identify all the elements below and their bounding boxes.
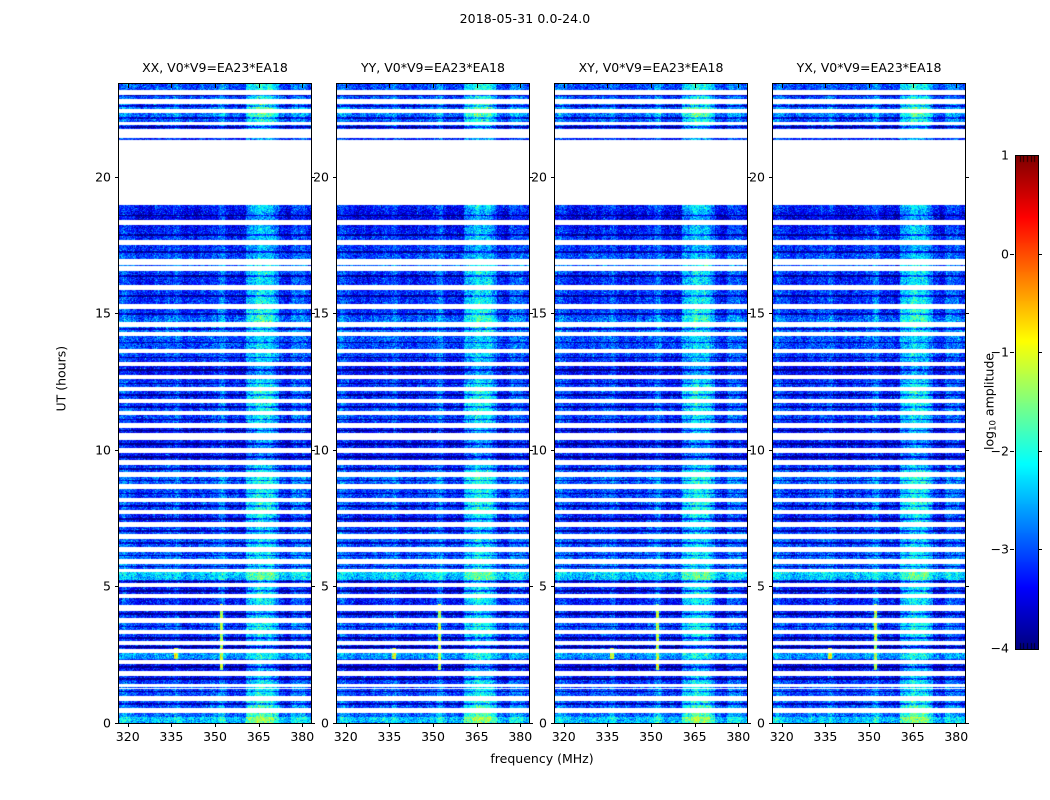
y-tick-mark	[551, 586, 555, 587]
colorbar-tick-label: 0	[1001, 246, 1009, 261]
x-tick-label: 335	[813, 729, 837, 744]
y-tick-label: 15	[749, 306, 765, 321]
x-tick-labels-1: 320335350365380	[337, 729, 529, 747]
spectrum-image-2	[555, 84, 747, 723]
x-tick-mark-top	[259, 84, 260, 88]
y-tick-mark	[333, 586, 337, 587]
x-tick-label: 320	[116, 729, 140, 744]
x-tick-mark-top	[782, 84, 783, 88]
x-tick-mark-top	[869, 84, 870, 88]
x-tick-mark	[738, 723, 739, 727]
x-tick-label: 320	[552, 729, 576, 744]
x-tick-mark	[695, 723, 696, 727]
x-tick-mark-top	[607, 84, 608, 88]
colorbar-gradient	[1016, 156, 1038, 649]
y-tick-mark	[769, 586, 773, 587]
x-tick-mark	[128, 723, 129, 727]
y-tick-mark	[551, 313, 555, 314]
y-tick-label: 0	[321, 716, 329, 731]
x-tick-label: 380	[508, 729, 532, 744]
x-tick-mark	[520, 723, 521, 727]
y-tick-mark-right	[529, 723, 533, 724]
x-tick-mark	[825, 723, 826, 727]
subplot-title-2: XY, V0*V9=EA23*EA18	[555, 60, 747, 75]
x-tick-mark	[302, 723, 303, 727]
colorbar-tick-mark	[1010, 451, 1014, 452]
x-tick-label: 320	[334, 729, 358, 744]
y-tick-labels-3: 05101520	[733, 84, 765, 723]
colorbar-tick-mark-right	[1038, 451, 1042, 452]
colorbar-tick-mark-right	[1038, 352, 1042, 353]
x-tick-label: 350	[421, 729, 445, 744]
x-tick-mark	[477, 723, 478, 727]
y-tick-labels-1: 05101520	[297, 84, 329, 723]
y-tick-label: 10	[313, 442, 329, 457]
x-tick-label: 365	[683, 729, 707, 744]
y-tick-mark-right	[747, 723, 751, 724]
x-tick-labels-2: 320335350365380	[555, 729, 747, 747]
x-tick-mark	[956, 723, 957, 727]
x-tick-mark-top	[956, 84, 957, 88]
colorbar-tick-mark	[1010, 254, 1014, 255]
x-tick-mark-top	[433, 84, 434, 88]
x-tick-labels-3: 320335350365380	[773, 729, 965, 747]
spectrum-image-3	[773, 84, 965, 723]
x-tick-mark	[346, 723, 347, 727]
subplot-title-0: XX, V0*V9=EA23*EA18	[119, 60, 311, 75]
x-tick-label: 380	[290, 729, 314, 744]
y-tick-mark	[115, 723, 119, 724]
y-tick-label: 15	[95, 306, 111, 321]
x-tick-mark	[607, 723, 608, 727]
colorbar-tick-mark	[1010, 549, 1014, 550]
y-tick-mark-right	[965, 450, 969, 451]
y-tick-label: 10	[95, 442, 111, 457]
dynamic-spectrum-panel-1[interactable]	[336, 83, 530, 724]
x-tick-mark-top	[215, 84, 216, 88]
y-tick-label: 0	[757, 716, 765, 731]
x-tick-mark-top	[389, 84, 390, 88]
x-tick-mark-top	[913, 84, 914, 88]
x-tick-mark	[869, 723, 870, 727]
y-tick-label: 5	[321, 579, 329, 594]
x-tick-mark	[171, 723, 172, 727]
x-tick-mark	[651, 723, 652, 727]
y-axis-label: UT (hours)	[54, 393, 69, 411]
x-tick-mark-top	[128, 84, 129, 88]
y-tick-mark	[551, 177, 555, 178]
y-tick-mark-right	[311, 723, 315, 724]
y-tick-label: 5	[757, 579, 765, 594]
y-tick-mark	[551, 450, 555, 451]
x-tick-label: 320	[770, 729, 794, 744]
y-tick-mark	[115, 313, 119, 314]
x-tick-mark	[259, 723, 260, 727]
x-tick-label: 335	[595, 729, 619, 744]
x-tick-label: 365	[465, 729, 489, 744]
colorbar-tick-label: 1	[1001, 148, 1009, 163]
y-tick-mark-right	[965, 313, 969, 314]
figure-suptitle: 2018-05-31 0.0-24.0	[0, 11, 1050, 26]
y-tick-mark	[333, 723, 337, 724]
y-tick-mark	[115, 177, 119, 178]
x-tick-label: 380	[944, 729, 968, 744]
y-tick-mark	[333, 450, 337, 451]
x-tick-label: 350	[203, 729, 227, 744]
y-tick-mark-right	[965, 586, 969, 587]
dynamic-spectrum-panel-3[interactable]	[772, 83, 966, 724]
y-tick-mark	[333, 177, 337, 178]
spectrum-image-1	[337, 84, 529, 723]
x-tick-label: 350	[857, 729, 881, 744]
subplot-title-3: YX, V0*V9=EA23*EA18	[773, 60, 965, 75]
colorbar-tick-label: −4	[991, 641, 1009, 656]
x-axis-label: frequency (MHz)	[119, 751, 965, 766]
colorbar-label: log10 amplitude	[982, 341, 999, 461]
y-tick-label: 5	[103, 579, 111, 594]
x-tick-label: 380	[726, 729, 750, 744]
x-tick-label: 365	[247, 729, 271, 744]
y-tick-label: 0	[539, 716, 547, 731]
x-tick-mark-top	[825, 84, 826, 88]
colorbar[interactable]	[1015, 155, 1039, 650]
colorbar-tick-mark-right	[1038, 254, 1042, 255]
spectrum-image-0	[119, 84, 311, 723]
x-tick-mark-top	[651, 84, 652, 88]
y-tick-mark	[769, 723, 773, 724]
y-tick-label: 5	[539, 579, 547, 594]
y-tick-label: 20	[749, 169, 765, 184]
x-tick-mark-top	[346, 84, 347, 88]
colorbar-tick-mark-right	[1038, 549, 1042, 550]
y-tick-mark	[769, 177, 773, 178]
x-tick-label: 365	[901, 729, 925, 744]
x-tick-mark	[782, 723, 783, 727]
y-tick-label: 20	[531, 169, 547, 184]
dynamic-spectrum-panel-0[interactable]	[118, 83, 312, 724]
y-tick-mark	[115, 586, 119, 587]
y-tick-label: 10	[531, 442, 547, 457]
colorbar-tick-label: −3	[991, 542, 1009, 557]
y-tick-label: 0	[103, 716, 111, 731]
y-tick-mark	[769, 450, 773, 451]
y-tick-labels-2: 05101520	[515, 84, 547, 723]
y-tick-labels-0: 05101520	[79, 84, 111, 723]
x-tick-mark	[913, 723, 914, 727]
x-tick-label: 335	[377, 729, 401, 744]
x-tick-mark-top	[695, 84, 696, 88]
x-tick-mark	[215, 723, 216, 727]
x-tick-mark	[389, 723, 390, 727]
x-tick-mark	[564, 723, 565, 727]
dynamic-spectrum-panel-2[interactable]	[554, 83, 748, 724]
y-tick-mark	[769, 313, 773, 314]
x-tick-mark-top	[477, 84, 478, 88]
y-tick-label: 20	[95, 169, 111, 184]
y-tick-label: 20	[313, 169, 329, 184]
x-tick-mark-top	[564, 84, 565, 88]
x-tick-mark-top	[171, 84, 172, 88]
y-tick-label: 15	[313, 306, 329, 321]
x-tick-label: 350	[639, 729, 663, 744]
figure-canvas: 2018-05-31 0.0-24.0 XX, V0*V9=EA23*EA183…	[0, 0, 1050, 800]
y-tick-label: 15	[531, 306, 547, 321]
y-tick-mark-right	[965, 723, 969, 724]
x-tick-mark	[433, 723, 434, 727]
y-tick-mark	[115, 450, 119, 451]
x-tick-labels-0: 320335350365380	[119, 729, 311, 747]
y-tick-mark-right	[965, 177, 969, 178]
y-tick-mark	[551, 723, 555, 724]
x-tick-label: 335	[159, 729, 183, 744]
y-tick-mark	[333, 313, 337, 314]
colorbar-tick-mark	[1010, 352, 1014, 353]
subplot-title-1: YY, V0*V9=EA23*EA18	[337, 60, 529, 75]
y-tick-label: 10	[749, 442, 765, 457]
